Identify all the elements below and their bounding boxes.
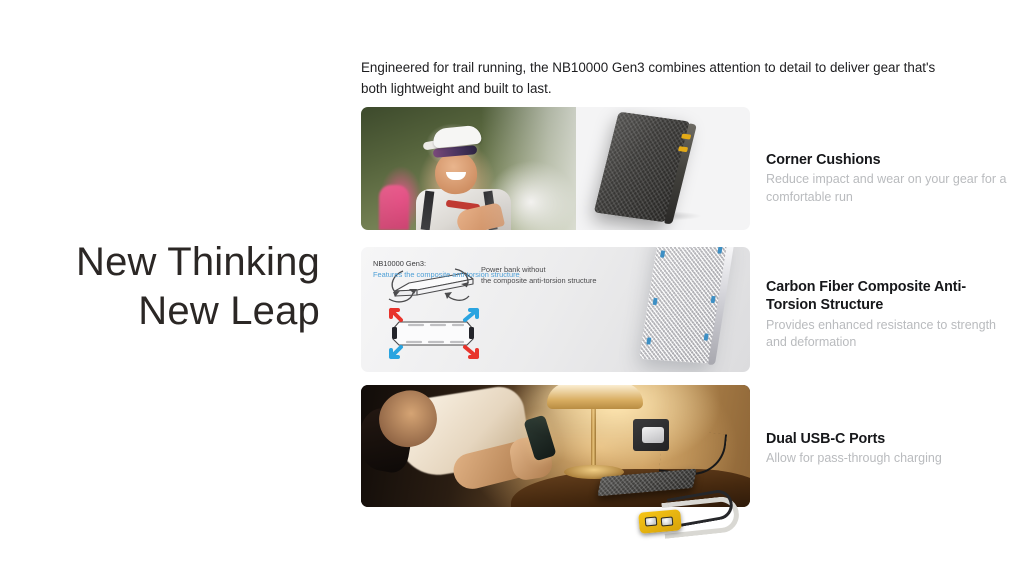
runner-photo (361, 107, 576, 230)
feature-subtitle: Reduce impact and wear on your gear for … (766, 171, 1011, 207)
feature-panel-1 (361, 107, 750, 230)
lamp-shade (547, 385, 643, 409)
headlamp-lens-icon (645, 516, 658, 526)
silver-power-bank (639, 247, 729, 364)
feature-caption-1: Corner Cushions Reduce impact and wear o… (766, 151, 1011, 207)
anti-torsion-diagram: Power bank without the composite anti-to… (373, 259, 641, 363)
background-runner (379, 185, 409, 230)
usb-c-port-icon (681, 133, 691, 139)
wall-charger (642, 427, 664, 443)
feature-caption-3: Dual USB-C Ports Allow for pass-through … (766, 430, 1011, 468)
feature-title: Corner Cushions (766, 151, 1011, 169)
feature-subtitle: Provides enhanced resistance to strength… (766, 317, 1011, 353)
diagram-label-gen3-prefix: NB10000 Gen3: (373, 259, 533, 270)
feature-caption-2: Carbon Fiber Composite Anti-Torsion Stru… (766, 278, 1011, 352)
headlamp-lens-icon (661, 516, 674, 526)
page-title: New Thinking New Leap (20, 238, 320, 336)
headlamp (635, 497, 740, 543)
feature-title: Carbon Fiber Composite Anti-Torsion Stru… (766, 278, 1011, 315)
feature-title: Dual USB-C Ports (766, 430, 1011, 448)
diagram-label-gen3-highlight: Features the composite anti-torsion stru… (373, 270, 533, 281)
feature-panel-2: Power bank without the composite anti-to… (361, 247, 750, 372)
usb-c-port-icon (678, 146, 688, 152)
feature-panel-3 (361, 385, 750, 507)
lamp-pole (591, 407, 596, 469)
intro-paragraph: Engineered for trail running, the NB1000… (361, 58, 941, 100)
slide-canvas: New Thinking New Leap Engineered for tra… (0, 0, 1024, 576)
diagram-label-gen3: NB10000 Gen3: Features the composite ant… (373, 259, 533, 280)
feature-subtitle: Allow for pass-through charging (766, 450, 1011, 468)
